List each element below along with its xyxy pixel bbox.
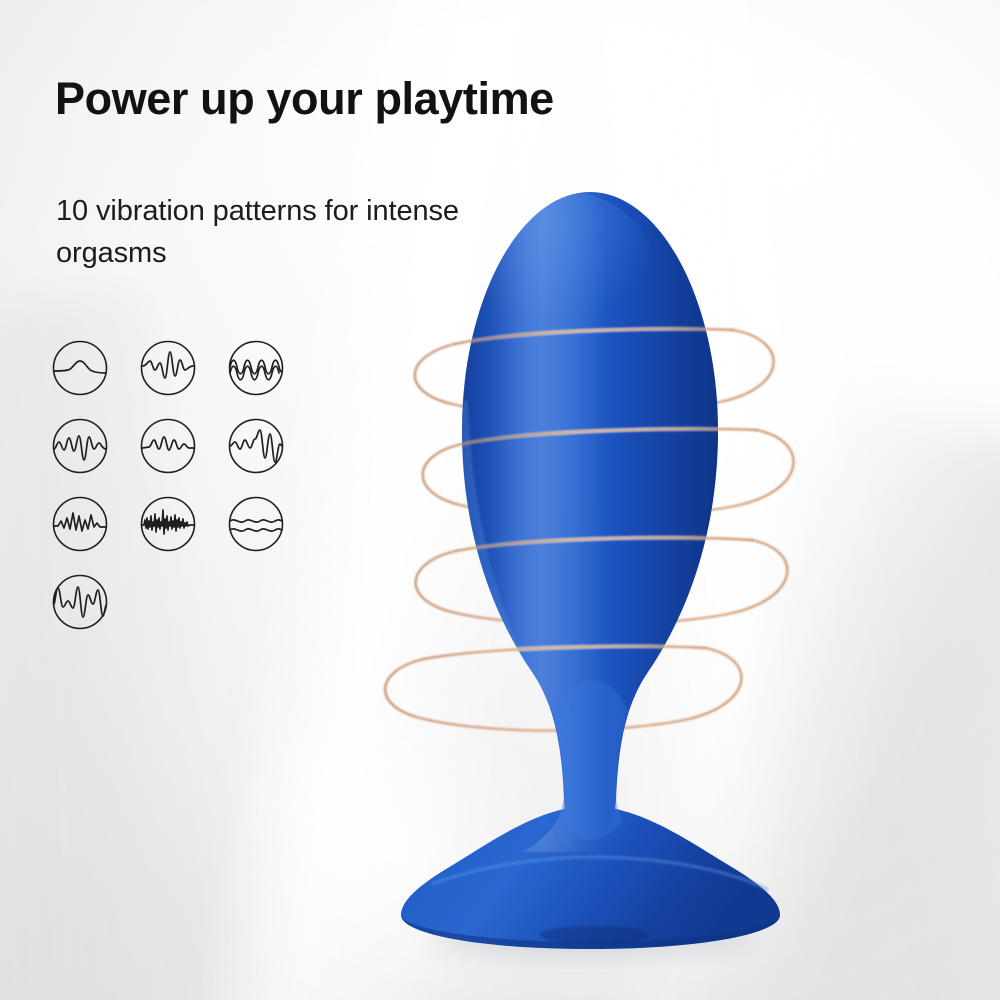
subtitle: 10 vibration patterns for intense orgasm… <box>56 190 486 274</box>
pattern-icon-10[interactable] <box>52 574 108 630</box>
pattern-icon-4[interactable] <box>52 418 108 474</box>
pattern-icon-7[interactable] <box>52 496 108 552</box>
vibration-pattern-grid <box>52 340 332 652</box>
pattern-icon-1[interactable] <box>52 340 108 396</box>
pattern-icon-8[interactable] <box>140 496 196 552</box>
pattern-icon-2[interactable] <box>140 340 196 396</box>
page-title: Power up your playtime <box>55 73 554 125</box>
pattern-icon-5[interactable] <box>140 418 196 474</box>
pattern-icon-9[interactable] <box>228 496 284 552</box>
product-banner: Power up your playtime 10 vibration patt… <box>0 0 1000 1000</box>
pattern-icon-3[interactable] <box>228 340 284 396</box>
pattern-icon-6[interactable] <box>228 418 284 474</box>
